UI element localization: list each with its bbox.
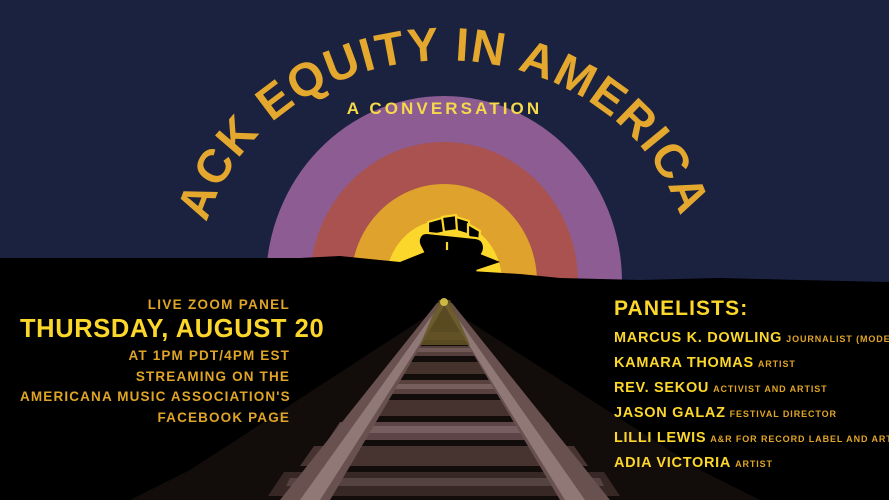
event-kicker: LIVE ZOOM PANEL bbox=[20, 298, 290, 312]
event-streaming-line-2: AMERICANA MUSIC ASSOCIATION'S bbox=[20, 390, 290, 404]
event-date: THURSDAY, AUGUST 20 bbox=[20, 317, 290, 343]
panelist-name: KAMARA THOMAS bbox=[614, 355, 754, 371]
panelist-row: MARCUS K. DOWLINGJOURNALIST (MODERATOR) bbox=[614, 329, 884, 347]
event-streaming-line-3: FACEBOOK PAGE bbox=[20, 411, 290, 425]
panelist-row: LILLI LEWISA&R FOR RECORD LABEL AND ARTI… bbox=[614, 429, 884, 447]
panelist-name: REV. SEKOU bbox=[614, 380, 709, 396]
panelist-role: JOURNALIST (MODERATOR) bbox=[786, 334, 889, 344]
panelist-role: A&R FOR RECORD LABEL AND ARTIST bbox=[710, 434, 889, 444]
panelist-role: ARTIST bbox=[735, 459, 773, 469]
panelist-name: JASON GALAZ bbox=[614, 405, 726, 421]
poster-canvas: BLACK EQUITY IN AMERICANA A CONVERSATION bbox=[0, 0, 889, 500]
panelist-role: ACTIVIST AND ARTIST bbox=[713, 384, 827, 394]
panelists-list: MARCUS K. DOWLINGJOURNALIST (MODERATOR)K… bbox=[614, 329, 884, 472]
panelist-name: LILLI LEWIS bbox=[614, 430, 706, 446]
panelist-role: FESTIVAL DIRECTOR bbox=[730, 409, 837, 419]
panelist-row: ADIA VICTORIAARTIST bbox=[614, 454, 884, 472]
panelist-row: JASON GALAZFESTIVAL DIRECTOR bbox=[614, 404, 884, 422]
panelist-role: ARTIST bbox=[758, 359, 796, 369]
panelists-block: PANELISTS: MARCUS K. DOWLINGJOURNALIST (… bbox=[614, 297, 884, 479]
panelist-row: REV. SEKOUACTIVIST AND ARTIST bbox=[614, 379, 884, 397]
panelist-name: ADIA VICTORIA bbox=[614, 455, 731, 471]
event-streaming-line-1: STREAMING ON THE bbox=[20, 370, 290, 384]
event-info-block: LIVE ZOOM PANEL THURSDAY, AUGUST 20 AT 1… bbox=[20, 298, 290, 431]
event-time: AT 1PM PDT/4PM EST bbox=[20, 349, 290, 363]
panelists-heading: PANELISTS: bbox=[614, 297, 884, 321]
panelist-row: KAMARA THOMASARTIST bbox=[614, 354, 884, 372]
panelist-name: MARCUS K. DOWLING bbox=[614, 330, 782, 346]
